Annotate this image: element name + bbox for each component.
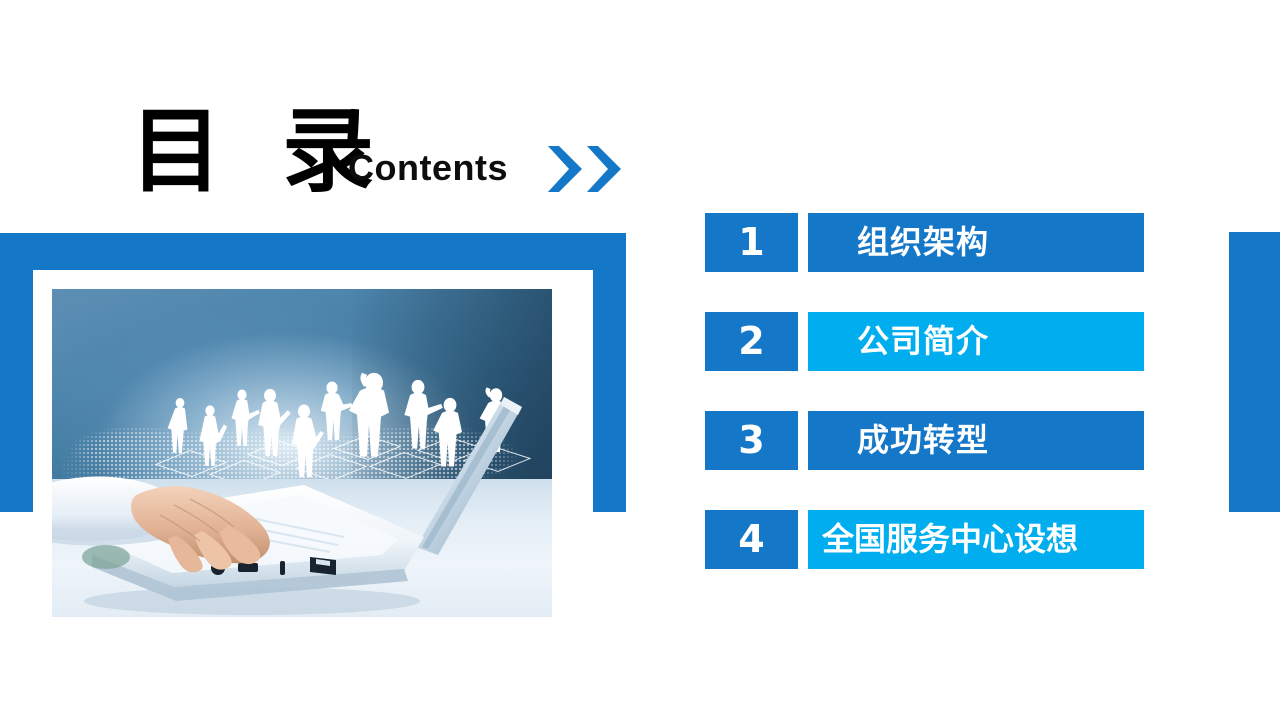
frame-top-bar xyxy=(0,233,626,270)
laptop-photo xyxy=(52,289,552,617)
contents-slide: 目 录 Contents xyxy=(0,0,1280,720)
item-label[interactable]: 成功转型 xyxy=(808,411,1144,470)
frame-left-bar xyxy=(0,233,33,512)
right-accent-bar xyxy=(1229,232,1280,512)
list-item[interactable]: 2 公司简介 xyxy=(705,312,1144,371)
chevron-right-icon xyxy=(584,144,624,194)
item-number: 1 xyxy=(705,213,798,272)
item-number: 2 xyxy=(705,312,798,371)
slide-title-area: 目 录 Contents xyxy=(130,100,650,210)
page-title-english: Contents xyxy=(348,146,508,190)
chevron-right-icon xyxy=(545,144,585,194)
item-label[interactable]: 组织架构 xyxy=(808,213,1144,272)
contents-list: 1 组织架构 2 公司简介 3 成功转型 4 全国服务中心设想 xyxy=(705,213,1144,569)
double-chevron-right-icon xyxy=(545,144,635,196)
item-label[interactable]: 全国服务中心设想 xyxy=(808,510,1144,569)
frame-right-bar xyxy=(593,233,626,512)
item-number: 3 xyxy=(705,411,798,470)
item-number: 4 xyxy=(705,510,798,569)
item-label[interactable]: 公司简介 xyxy=(808,312,1144,371)
list-item[interactable]: 4 全国服务中心设想 xyxy=(705,510,1144,569)
list-item[interactable]: 3 成功转型 xyxy=(705,411,1144,470)
laptop-and-hand xyxy=(52,289,552,617)
list-item[interactable]: 1 组织架构 xyxy=(705,213,1144,272)
